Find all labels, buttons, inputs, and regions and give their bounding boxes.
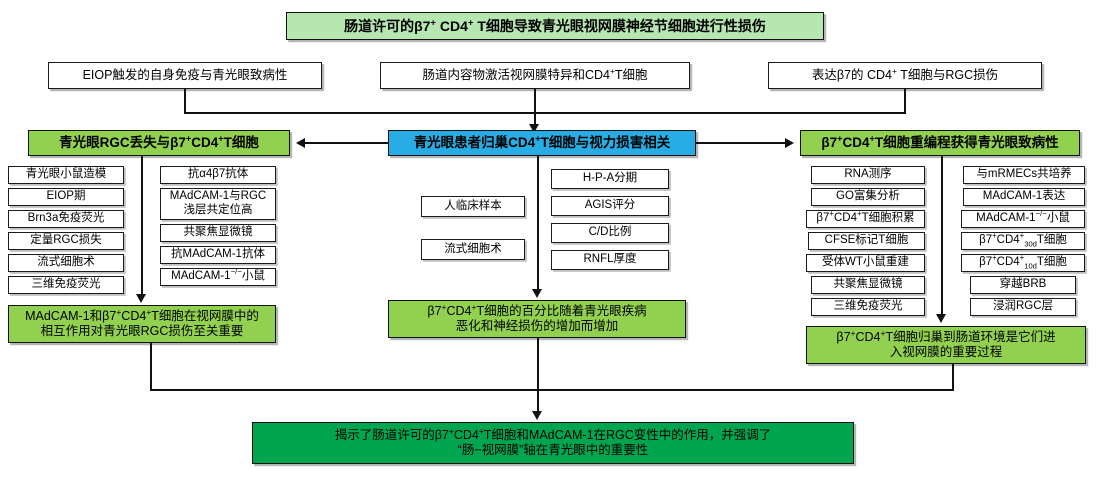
left-b-label-4: MAdCAM-1−/−小鼠	[171, 270, 265, 284]
right-b-item-4: β7+CD4+10dT细胞	[961, 254, 1085, 272]
center-b-item-1: AGIS评分	[551, 196, 669, 216]
final-conclusion-box: 揭示了肠道许可的β7+CD4+T细胞和MAdCAM-1在RGC变性中的作用，并强…	[252, 422, 854, 464]
left-a-label-0: 青光眼小鼠造模	[26, 168, 107, 182]
connector-center-to-right	[696, 142, 785, 144]
right-b-label-6: 浸润RGC层	[993, 300, 1053, 314]
right-b-item-3: β7+CD4+30dT细胞	[961, 232, 1085, 250]
arrow-center-to-right	[785, 138, 794, 148]
right-a-label-3: CFSE标记T细胞	[825, 234, 909, 248]
final-line1: 揭示了肠道许可的β7+CD4+T细胞和MAdCAM-1在RGC变性中的作用，并强…	[335, 428, 772, 443]
right-a-item-4: 受体WT小鼠重建	[806, 254, 925, 272]
section-header-right: β7+CD4+T细胞重编程获得青光眼致病性	[800, 130, 1080, 156]
title-text: 肠道许可的β7+ CD4+ T细胞导致青光眼视网膜神经节细胞进行性损伤	[344, 18, 766, 35]
left-a-label-1: EIOP期	[47, 190, 86, 204]
right-a-label-0: RNA测序	[844, 168, 891, 182]
arrow-center-to-left	[296, 138, 305, 148]
premise-box-gut-content: 肠道内容物激活视网膜特异和CD4+T细胞	[380, 62, 690, 89]
connector-right-conclusion-stem	[952, 364, 954, 390]
left-a-label-5: 三维免疫荧光	[32, 278, 101, 292]
left-a-label-3: 定量RGC损失	[30, 234, 102, 248]
conclusion-right-line1: β7+CD4+T细胞归巢到肠道环境是它们进	[836, 330, 1055, 345]
connector-right-header-down	[941, 156, 943, 316]
right-a-label-1: GO富集分析	[836, 190, 900, 204]
right-a-item-0: RNA测序	[811, 166, 925, 184]
conclusion-left-line2: 相互作用对青光眼RGC损伤至关重要	[41, 324, 244, 339]
connector-final-down	[537, 389, 539, 413]
connector-premise-center-stem	[534, 89, 536, 113]
left-b-item-2: 共聚焦显微镜	[160, 224, 276, 242]
center-a-label-0: 人临床样本	[444, 200, 502, 214]
section-header-left: 青光眼RGC丢失与β7+CD4+T细胞	[28, 130, 290, 156]
left-b-label-1b: 浅层共定位高	[184, 204, 253, 218]
arrow-right-to-conclusion	[936, 314, 946, 323]
final-line2: “肠−视网膜”轴在青光眼中的重要性	[458, 443, 649, 458]
left-a-item-1: EIOP期	[8, 188, 124, 206]
right-b-label-3: β7+CD4+30dT细胞	[979, 234, 1067, 248]
connector-center-header-down	[537, 156, 539, 291]
left-a-item-0: 青光眼小鼠造模	[8, 166, 124, 184]
conclusion-left: MAdCAM-1和β7+CD4+T细胞在视网膜中的 相互作用对青光眼RGC损伤至…	[8, 305, 276, 343]
conclusion-left-line1: MAdCAM-1和β7+CD4+T细胞在视网膜中的	[25, 309, 259, 324]
right-b-label-0: 与mRMECs共培养	[976, 168, 1071, 182]
connector-left-header-down	[141, 156, 143, 296]
left-a-item-2: Brn3a免疫荧光	[8, 210, 124, 228]
connector-premise-right-stem	[904, 89, 906, 113]
left-b-item-1: MAdCAM-1与RGC 浅层共定位高	[160, 188, 276, 220]
center-b-label-2: C/D比例	[589, 226, 632, 240]
arrow-to-final	[532, 411, 542, 420]
right-a-item-5: 共聚焦显微镜	[811, 276, 925, 294]
right-a-label-5: 共聚焦显微镜	[834, 278, 903, 292]
left-a-item-3: 定量RGC损失	[8, 232, 124, 250]
section-header-center-text: 青光眼患者归巢CD4+T细胞与视力损害相关	[414, 135, 671, 151]
right-a-item-2: β7+CD4+T细胞积累	[806, 210, 925, 228]
arrow-left-to-conclusion	[136, 294, 146, 303]
right-b-label-4: β7+CD4+10dT细胞	[979, 256, 1067, 270]
right-b-item-0: 与mRMECs共培养	[963, 166, 1085, 184]
left-b-item-3: 抗MAdCAM-1抗体	[160, 246, 276, 264]
premise-beta7-text: 表达β7的 CD4+ T细胞与RGC损伤	[812, 68, 998, 83]
conclusion-center-line1: β7+CD4+T细胞的百分比随着青光眼疾病	[427, 304, 646, 319]
left-a-item-5: 三维免疫荧光	[8, 276, 124, 294]
center-b-item-0: H-P-A分期	[551, 169, 669, 189]
right-b-label-1: MAdCAM-1表达	[983, 190, 1065, 204]
connector-premise-bus	[184, 112, 906, 114]
right-b-item-2: MAdCAM-1−/−小鼠	[961, 210, 1085, 228]
conclusion-right: β7+CD4+T细胞归巢到肠道环境是它们进 入视网膜的重要过程	[806, 326, 1086, 364]
center-a-item-0: 人临床样本	[421, 196, 525, 217]
title-box: 肠道许可的β7+ CD4+ T细胞导致青光眼视网膜神经节细胞进行性损伤	[286, 12, 824, 40]
section-header-left-text: 青光眼RGC丢失与β7+CD4+T细胞	[59, 135, 259, 151]
conclusion-center: β7+CD4+T细胞的百分比随着青光眼疾病 恶化和神经损伤的增加而增加	[388, 300, 686, 338]
connector-center-to-left	[305, 142, 389, 144]
connector-final-bus	[150, 389, 954, 391]
right-a-label-6: 三维免疫荧光	[834, 300, 903, 314]
section-header-right-text: β7+CD4+T细胞重编程获得青光眼致病性	[821, 135, 1058, 151]
flowchart-canvas: 肠道许可的β7+ CD4+ T细胞导致青光眼视网膜神经节细胞进行性损伤 EIOP…	[0, 0, 1110, 480]
arrow-center-to-conclusion	[532, 289, 542, 298]
right-b-item-1: MAdCAM-1表达	[963, 188, 1085, 206]
center-a-label-1: 流式细胞术	[444, 243, 502, 257]
conclusion-right-line2: 入视网膜的重要过程	[890, 345, 1003, 360]
center-a-item-1: 流式细胞术	[421, 239, 525, 260]
right-b-item-6: 浸润RGC层	[970, 298, 1076, 316]
left-b-label-3: 抗MAdCAM-1抗体	[171, 248, 265, 262]
premise-box-beta7: 表达β7的 CD4+ T细胞与RGC损伤	[768, 62, 1042, 89]
premise-eiop-text: EIOP触发的自身免疫与青光眼致病性	[83, 68, 288, 83]
center-b-label-1: AGIS评分	[585, 199, 635, 213]
center-b-item-3: RNFL厚度	[551, 250, 669, 270]
section-header-center: 青光眼患者归巢CD4+T细胞与视力损害相关	[388, 130, 696, 156]
right-b-item-5: 穿越BRB	[970, 276, 1076, 294]
left-a-label-2: Brn3a免疫荧光	[28, 212, 105, 226]
left-b-label-0: 抗α4β7抗体	[188, 168, 249, 182]
left-a-label-4: 流式细胞术	[37, 256, 95, 270]
connector-left-conclusion-stem	[150, 343, 152, 390]
left-a-item-4: 流式细胞术	[8, 254, 124, 272]
left-b-label-1a: MAdCAM-1与RGC	[170, 190, 266, 204]
right-a-label-2: β7+CD4+T细胞积累	[816, 212, 914, 226]
left-b-item-4: MAdCAM-1−/−小鼠	[160, 268, 276, 286]
connector-premise-left-stem	[184, 89, 186, 113]
right-a-item-1: GO富集分析	[811, 188, 925, 206]
right-a-label-4: 受体WT小鼠重建	[822, 256, 909, 270]
right-a-item-6: 三维免疫荧光	[811, 298, 925, 316]
center-b-label-3: RNFL厚度	[583, 253, 636, 267]
conclusion-center-line2: 恶化和神经损伤的增加而增加	[456, 319, 619, 334]
center-b-label-0: H-P-A分期	[583, 172, 637, 186]
premise-box-eiop: EIOP触发的自身免疫与青光眼致病性	[48, 62, 322, 89]
right-a-item-3: CFSE标记T细胞	[808, 232, 925, 250]
premise-gut-text: 肠道内容物激活视网膜特异和CD4+T细胞	[422, 68, 647, 83]
connector-center-conclusion-stem	[537, 338, 539, 390]
left-b-label-2: 共聚焦显微镜	[184, 226, 253, 240]
center-b-item-2: C/D比例	[551, 223, 669, 243]
left-b-item-0: 抗α4β7抗体	[160, 166, 276, 184]
right-b-label-2: MAdCAM-1−/−小鼠	[976, 212, 1070, 226]
right-b-label-5: 穿越BRB	[1000, 278, 1047, 292]
